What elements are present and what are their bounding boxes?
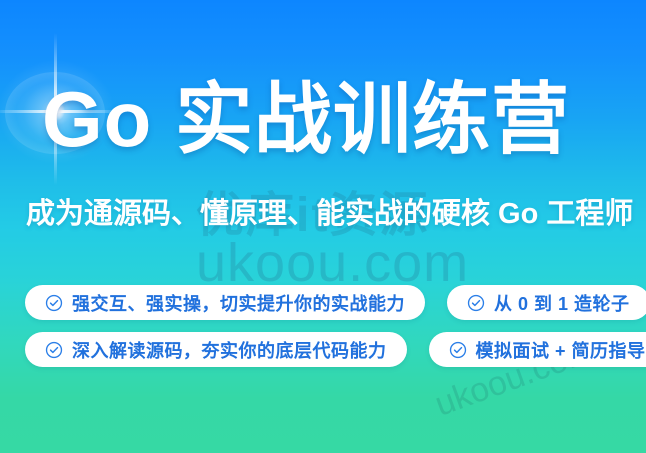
check-circle-icon <box>45 341 63 359</box>
check-circle-icon <box>45 294 63 312</box>
feature-pill[interactable]: 深入解读源码，夯实你的底层代码能力 <box>25 332 407 367</box>
course-promo-banner: 优库it资源 ukoou.com ukoou.com Go 实战训练营 成为通源… <box>0 0 646 453</box>
feature-pill-label: 深入解读源码，夯实你的底层代码能力 <box>72 337 387 363</box>
check-circle-icon <box>449 341 467 359</box>
feature-pill[interactable]: 从 0 到 1 造轮子 <box>447 285 646 320</box>
feature-pill[interactable]: 强交互、强实操，切实提升你的实战能力 <box>25 285 425 320</box>
feature-pill-list: 强交互、强实操，切实提升你的实战能力 从 0 到 1 造轮子 深入解读源码，夯实… <box>25 285 646 367</box>
feature-pill[interactable]: 模拟面试 + 简历指导 <box>429 332 646 367</box>
banner-subtitle: 成为通源码、懂原理、能实战的硬核 Go 工程师 <box>26 196 633 232</box>
feature-pill-label: 模拟面试 + 简历指导 <box>476 337 646 363</box>
banner-title: Go 实战训练营 <box>42 78 570 160</box>
feature-pill-label: 从 0 到 1 造轮子 <box>494 290 630 316</box>
check-circle-icon <box>467 294 485 312</box>
feature-pill-label: 强交互、强实操，切实提升你的实战能力 <box>72 290 405 316</box>
